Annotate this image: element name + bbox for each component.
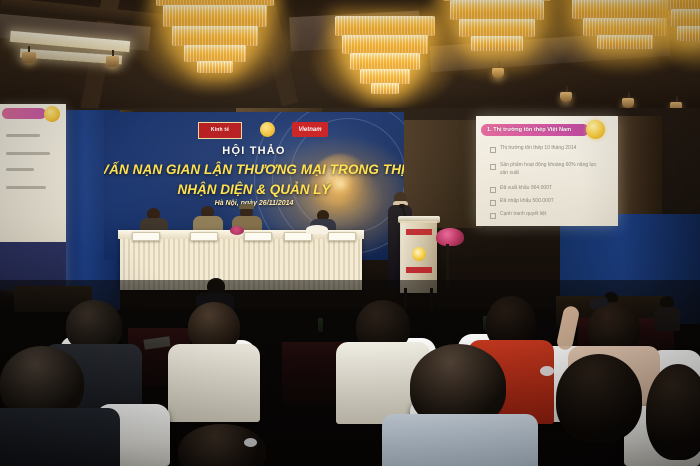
attendee-front-head-5 [646, 364, 700, 460]
projection-screen-right: 1. Thị trường tôn thép Việt Nam Thị trườ… [476, 116, 618, 226]
lectern-top [398, 216, 440, 223]
lectern-sun-logo-icon [412, 247, 426, 261]
banner-logo-row: Kinh tế Vietnam [198, 121, 328, 138]
left-screen-seal-icon [44, 106, 60, 122]
chandelier-5 [666, 0, 700, 60]
chandelier-1 [150, 0, 280, 80]
conference-photo-scene: Kinh tế Vietnam HỘI THẢO VẤN NẠN GIAN LẬ… [0, 0, 700, 466]
lectern-banner-bottom [406, 267, 432, 273]
banner-headline-line2: NHẬN DIỆN & QUẢN LÝ [104, 182, 404, 197]
banner-headline-line1: VẤN NẠN GIAN LẬN THƯƠNG MẠI TRONG THỊ TR… [104, 162, 404, 177]
slide-bullet-3: Đã xuất khẩu 964.000T [500, 185, 552, 191]
ceiling-spotlight-2 [106, 56, 119, 67]
banner-kicker: HỘI THẢO [104, 145, 404, 157]
left-screen-heading-pill [2, 108, 46, 119]
attendee-front-head-4 [556, 354, 642, 442]
kinh-te-logo: Kinh tế [198, 122, 242, 139]
ceiling-spotlight-4 [560, 92, 572, 102]
projection-screen-left [0, 104, 66, 290]
vietnam-logo-text: Vietnam [298, 127, 321, 133]
vietnam-logo: Vietnam [292, 122, 328, 137]
ceiling-spotlight-5 [622, 98, 634, 108]
slide-bullet-2: Sản phẩm hoạt động khoảng 60% năng lực s… [500, 162, 604, 177]
slide-bullet-4: Đã nhập khẩu 500.000T [500, 198, 554, 204]
nameplate-2 [190, 232, 218, 241]
chandelier-3 [438, 0, 556, 68]
hair-clip-icon [540, 366, 554, 376]
nameplate-1 [132, 232, 160, 241]
wall-panel-right [404, 120, 482, 228]
kinh-te-logo-text: Kinh tế [211, 128, 229, 133]
slide-seal-icon [586, 120, 605, 139]
nameplate-3 [244, 232, 272, 241]
gold-seal-logo [260, 122, 275, 137]
attendee-front-body-1 [0, 408, 120, 466]
slide-bullet-5: Cạnh tranh quyết liệt [500, 211, 546, 217]
ceiling-spotlight-1 [22, 52, 36, 63]
lectern-banner-top [406, 229, 432, 235]
stage-flower-vase [436, 228, 464, 246]
podium-microphone-head [399, 204, 405, 208]
table-flower-arrangement [230, 226, 244, 235]
attendee-body-2 [168, 344, 260, 422]
slide-bullet-1: Thị trường tôn thép 10 tháng 2014 [500, 145, 576, 151]
nameplate-5 [328, 232, 356, 241]
attendee-front-body-3 [382, 414, 538, 466]
hair-clip-icon-2 [244, 438, 257, 447]
table-papers [306, 225, 328, 234]
slide-heading-pill: 1. Thị trường tôn thép Việt Nam [481, 124, 589, 136]
slide-heading-text: 1. Thị trường tôn thép Việt Nam [487, 127, 571, 133]
